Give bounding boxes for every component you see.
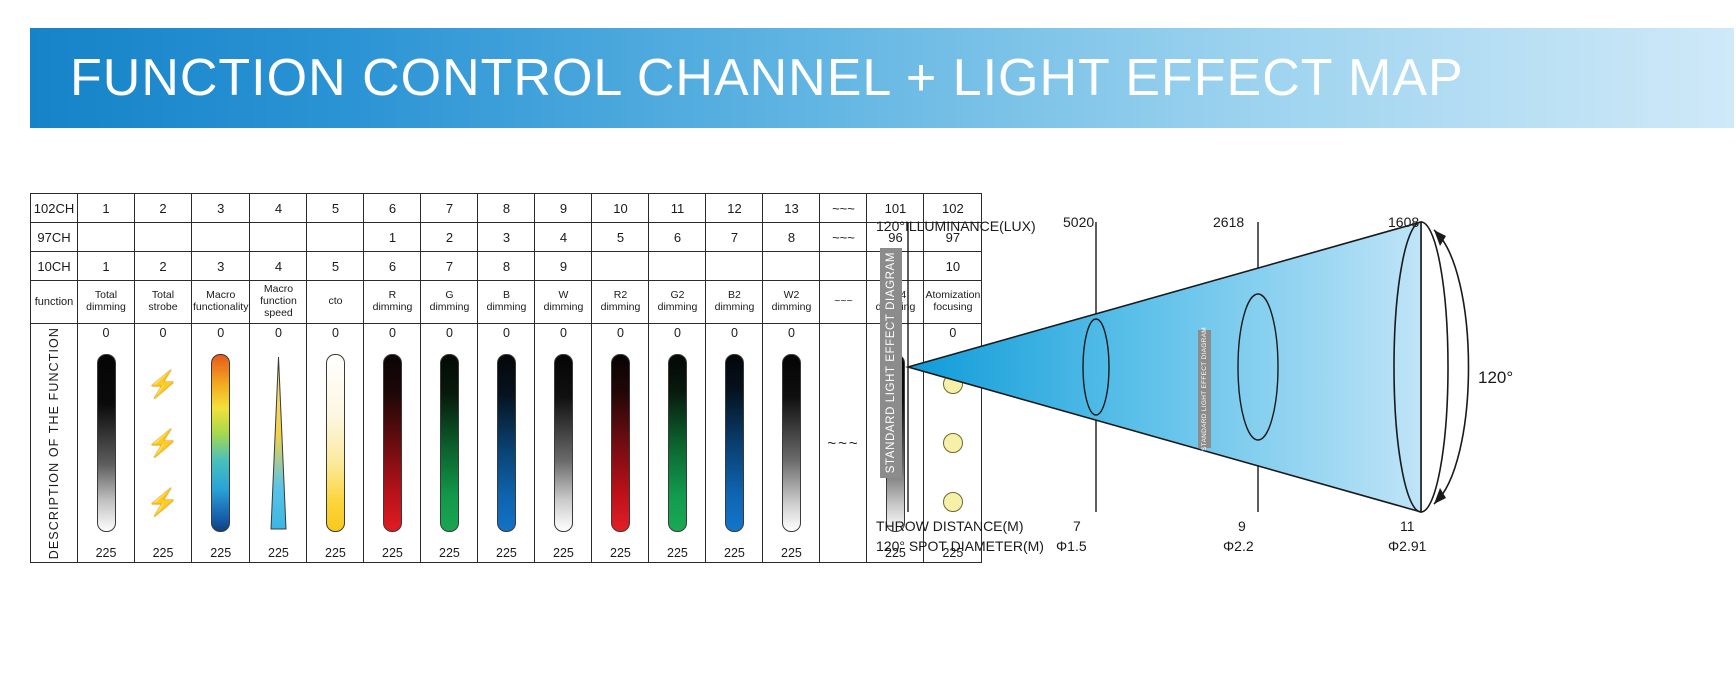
channel-map-table-wrapper: 102CH 12345678910111213~~~101102 97CH 12… <box>30 193 982 563</box>
table-row-function: function TotaldimmingTotalstrobeMacrofun… <box>31 281 982 324</box>
row-label-function: function <box>31 281 78 324</box>
beam-cone <box>908 222 1421 512</box>
standard-light-effect-diagram-bar-small: STANDARD LIGHT EFFECT DIAGRAM <box>1198 330 1211 448</box>
value-bottom: 225 <box>610 547 631 560</box>
value-stack: 0225 <box>250 324 306 562</box>
value-stack: 0225 <box>192 324 249 562</box>
value-top: 0 <box>103 327 110 340</box>
description-vertical-label: DESCRIPTION OF THE FUNCTION <box>47 327 61 559</box>
function-label-line: dimming <box>706 302 762 314</box>
value-bottom: 225 <box>781 547 802 560</box>
standard-light-effect-diagram-bar: STANDARD LIGHT EFFECT DIAGRAM <box>880 248 902 478</box>
value-top: 0 <box>560 327 567 340</box>
row-label-description: DESCRIPTION OF THE FUNCTION <box>31 324 78 563</box>
cell-102ch-13: ~~~ <box>820 194 867 223</box>
cell-function-8: Wdimming <box>535 281 592 324</box>
value-bottom: 225 <box>268 547 289 560</box>
function-label-line: strobe <box>135 302 191 314</box>
cell-10ch-11 <box>706 252 763 281</box>
illuminance-value-1: 5020 <box>1063 214 1094 230</box>
cell-102ch-5: 6 <box>364 194 421 223</box>
gradient-bar <box>211 354 230 532</box>
cell-97ch-1 <box>135 223 192 252</box>
cell-10ch-3: 4 <box>250 252 307 281</box>
cell-97ch-13: ~~~ <box>820 223 867 252</box>
cell-97ch-5: 1 <box>364 223 421 252</box>
beam-diagram-svg <box>868 200 1498 560</box>
value-top: 0 <box>788 327 795 340</box>
value-top: 0 <box>160 327 167 340</box>
cell-function-5: Rdimming <box>364 281 421 324</box>
table-row-10ch: 10CH 12345678910 <box>31 252 982 281</box>
gradient-bar <box>326 354 345 532</box>
cell-97ch-8: 4 <box>535 223 592 252</box>
cell-97ch-6: 2 <box>421 223 478 252</box>
gradient-bar <box>611 354 630 532</box>
cell-function-0: Totaldimming <box>78 281 135 324</box>
cell-10ch-7: 8 <box>478 252 535 281</box>
spot-diameter-value-2: Φ2.2 <box>1223 538 1254 554</box>
cell-10ch-0: 1 <box>78 252 135 281</box>
standard-light-effect-diagram-bar-label: STANDARD LIGHT EFFECT DIAGRAM <box>885 252 897 473</box>
cell-10ch-2: 3 <box>192 252 250 281</box>
value-top: 0 <box>217 327 224 340</box>
gradient-bar <box>668 354 687 532</box>
cell-description-10: 0225 <box>649 324 706 563</box>
function-label-line: dimming <box>364 302 420 314</box>
cell-description-2: 0225 <box>192 324 250 563</box>
tilde-marker: ~~~ <box>827 435 859 452</box>
value-stack: 0225 <box>706 324 762 562</box>
value-bottom: 225 <box>96 547 117 560</box>
throw-distance-value-3: 11 <box>1400 518 1415 534</box>
value-stack: 0225 <box>478 324 534 562</box>
cell-97ch-3 <box>250 223 307 252</box>
standard-light-effect-diagram-bar-small-label: STANDARD LIGHT EFFECT DIAGRAM <box>1201 327 1208 451</box>
cell-97ch-0 <box>78 223 135 252</box>
page-title: FUNCTION CONTROL CHANNEL + LIGHT EFFECT … <box>30 48 1464 108</box>
illuminance-label: 120°ILLUMINANCE(LUX) <box>876 218 1036 234</box>
value-bottom: 225 <box>153 547 174 560</box>
cell-10ch-1: 2 <box>135 252 192 281</box>
beam-angle-label: 120° <box>1478 368 1513 388</box>
cell-97ch-2 <box>192 223 250 252</box>
function-label-line: dimming <box>421 302 477 314</box>
spot-ellipse-3 <box>1394 222 1448 512</box>
cell-97ch-9: 5 <box>592 223 649 252</box>
value-stack: 0225 <box>78 324 134 562</box>
cell-description-11: 0225 <box>706 324 763 563</box>
value-stack: 0225 <box>649 324 705 562</box>
cell-102ch-1: 2 <box>135 194 192 223</box>
cell-10ch-10 <box>649 252 706 281</box>
cell-102ch-9: 10 <box>592 194 649 223</box>
cell-102ch-8: 9 <box>535 194 592 223</box>
value-bottom: 225 <box>553 547 574 560</box>
function-label-line: dimming <box>478 302 534 314</box>
table-row-97ch: 97CH 12345678~~~9697 <box>31 223 982 252</box>
cell-function-12: W2dimming <box>763 281 820 324</box>
cell-function-13: ~~~ <box>820 281 867 324</box>
value-stack: 0225 <box>592 324 648 562</box>
lightning-bolt-icon: ⚡ <box>147 371 179 397</box>
cell-description-1: 0⚡⚡⚡225 <box>135 324 192 563</box>
cell-102ch-0: 1 <box>78 194 135 223</box>
cell-97ch-12: 8 <box>763 223 820 252</box>
row-label-97ch: 97CH <box>31 223 78 252</box>
spot-diameter-value-1: Φ1.5 <box>1056 538 1087 554</box>
cell-10ch-13 <box>820 252 867 281</box>
cell-10ch-5: 6 <box>364 252 421 281</box>
gradient-bar <box>782 354 801 532</box>
row-label-10ch: 10CH <box>31 252 78 281</box>
macro-speed-wedge <box>269 355 288 531</box>
throw-distance-value-2: 9 <box>1238 518 1246 534</box>
function-label-line: cto <box>307 296 363 308</box>
value-top: 0 <box>503 327 510 340</box>
function-label-line: dimming <box>763 302 819 314</box>
value-top: 0 <box>332 327 339 340</box>
value-stack: 0⚡⚡⚡225 <box>135 324 191 562</box>
cell-102ch-10: 11 <box>649 194 706 223</box>
function-label-line: dimming <box>535 302 591 314</box>
cell-10ch-12 <box>763 252 820 281</box>
value-stack: 0225 <box>535 324 591 562</box>
cell-description-0: 0225 <box>78 324 135 563</box>
cell-description-8: 0225 <box>535 324 592 563</box>
function-label-line: ~~~ <box>820 296 866 308</box>
gradient-bar <box>497 354 516 532</box>
cell-97ch-10: 6 <box>649 223 706 252</box>
cell-description-12: 0225 <box>763 324 820 563</box>
cell-description-3: 0225 <box>250 324 307 563</box>
lightning-bolt-icon: ⚡ <box>147 489 179 515</box>
spot-diameter-label: 120° SPOT DIAMETER(M) <box>876 538 1044 554</box>
throw-distance-value-1: 7 <box>1073 518 1081 534</box>
table-row-102ch: 102CH 12345678910111213~~~101102 <box>31 194 982 223</box>
channel-map-table: 102CH 12345678910111213~~~101102 97CH 12… <box>30 193 982 563</box>
cell-102ch-3: 4 <box>250 194 307 223</box>
gradient-bar <box>554 354 573 532</box>
cell-function-7: Bdimming <box>478 281 535 324</box>
illuminance-value-3: 1608 <box>1388 214 1419 230</box>
value-bottom: 225 <box>724 547 745 560</box>
cell-function-6: Gdimming <box>421 281 478 324</box>
cell-10ch-4: 5 <box>307 252 364 281</box>
cell-description-4: 0225 <box>307 324 364 563</box>
cell-description-9: 0225 <box>592 324 649 563</box>
cell-function-3: Macrofunctionspeed <box>250 281 307 324</box>
illuminance-value-2: 2618 <box>1213 214 1244 230</box>
value-top: 0 <box>446 327 453 340</box>
value-top: 0 <box>617 327 624 340</box>
function-label-line: dimming <box>592 302 648 314</box>
cell-10ch-8: 9 <box>535 252 592 281</box>
light-effect-diagram: STANDARD LIGHT EFFECT DIAGRAM STANDARD L… <box>868 200 1498 560</box>
value-bottom: 225 <box>210 547 231 560</box>
cell-102ch-7: 8 <box>478 194 535 223</box>
cell-function-11: B2dimming <box>706 281 763 324</box>
cell-97ch-4 <box>307 223 364 252</box>
value-stack: 0225 <box>763 324 819 562</box>
cell-description-13: ~~~ <box>820 324 867 563</box>
cell-function-9: R2dimming <box>592 281 649 324</box>
cell-description-5: 0225 <box>364 324 421 563</box>
function-label-line: dimming <box>649 302 705 314</box>
function-label-line: dimming <box>78 302 134 314</box>
strobe-bolts: ⚡⚡⚡ <box>147 355 179 531</box>
cell-function-4: cto <box>307 281 364 324</box>
page-banner: FUNCTION CONTROL CHANNEL + LIGHT EFFECT … <box>30 28 1734 128</box>
cell-97ch-7: 3 <box>478 223 535 252</box>
cell-function-1: Totalstrobe <box>135 281 192 324</box>
cell-function-2: Macrofunctionality <box>192 281 250 324</box>
cell-102ch-11: 12 <box>706 194 763 223</box>
value-bottom: 225 <box>382 547 403 560</box>
value-bottom: 225 <box>667 547 688 560</box>
spot-diameter-value-3: Φ2.91 <box>1388 538 1426 554</box>
cell-description-7: 0225 <box>478 324 535 563</box>
gradient-bar <box>725 354 744 532</box>
value-stack: 0225 <box>364 324 420 562</box>
value-stack: 0225 <box>421 324 477 562</box>
throw-distance-label: THROW DISTANCE(M) <box>876 518 1024 534</box>
row-label-102ch: 102CH <box>31 194 78 223</box>
function-label-line: functionality <box>192 302 249 314</box>
value-stack: 0225 <box>307 324 363 562</box>
table-row-description: DESCRIPTION OF THE FUNCTION 02250⚡⚡⚡2250… <box>31 324 982 563</box>
value-top: 0 <box>674 327 681 340</box>
function-label-line: speed <box>250 308 306 320</box>
value-top: 0 <box>389 327 396 340</box>
cell-102ch-4: 5 <box>307 194 364 223</box>
value-top: 0 <box>731 327 738 340</box>
value-bottom: 225 <box>325 547 346 560</box>
cell-102ch-6: 7 <box>421 194 478 223</box>
lightning-bolt-icon: ⚡ <box>147 430 179 456</box>
cell-10ch-6: 7 <box>421 252 478 281</box>
gradient-bar <box>440 354 459 532</box>
gradient-bar <box>97 354 116 532</box>
cell-function-10: G2dimming <box>649 281 706 324</box>
cell-102ch-12: 13 <box>763 194 820 223</box>
cell-description-6: 0225 <box>421 324 478 563</box>
cell-102ch-2: 3 <box>192 194 250 223</box>
cell-10ch-9 <box>592 252 649 281</box>
cell-97ch-11: 7 <box>706 223 763 252</box>
value-top: 0 <box>275 327 282 340</box>
gradient-bar <box>383 354 402 532</box>
value-bottom: 225 <box>496 547 517 560</box>
value-bottom: 225 <box>439 547 460 560</box>
